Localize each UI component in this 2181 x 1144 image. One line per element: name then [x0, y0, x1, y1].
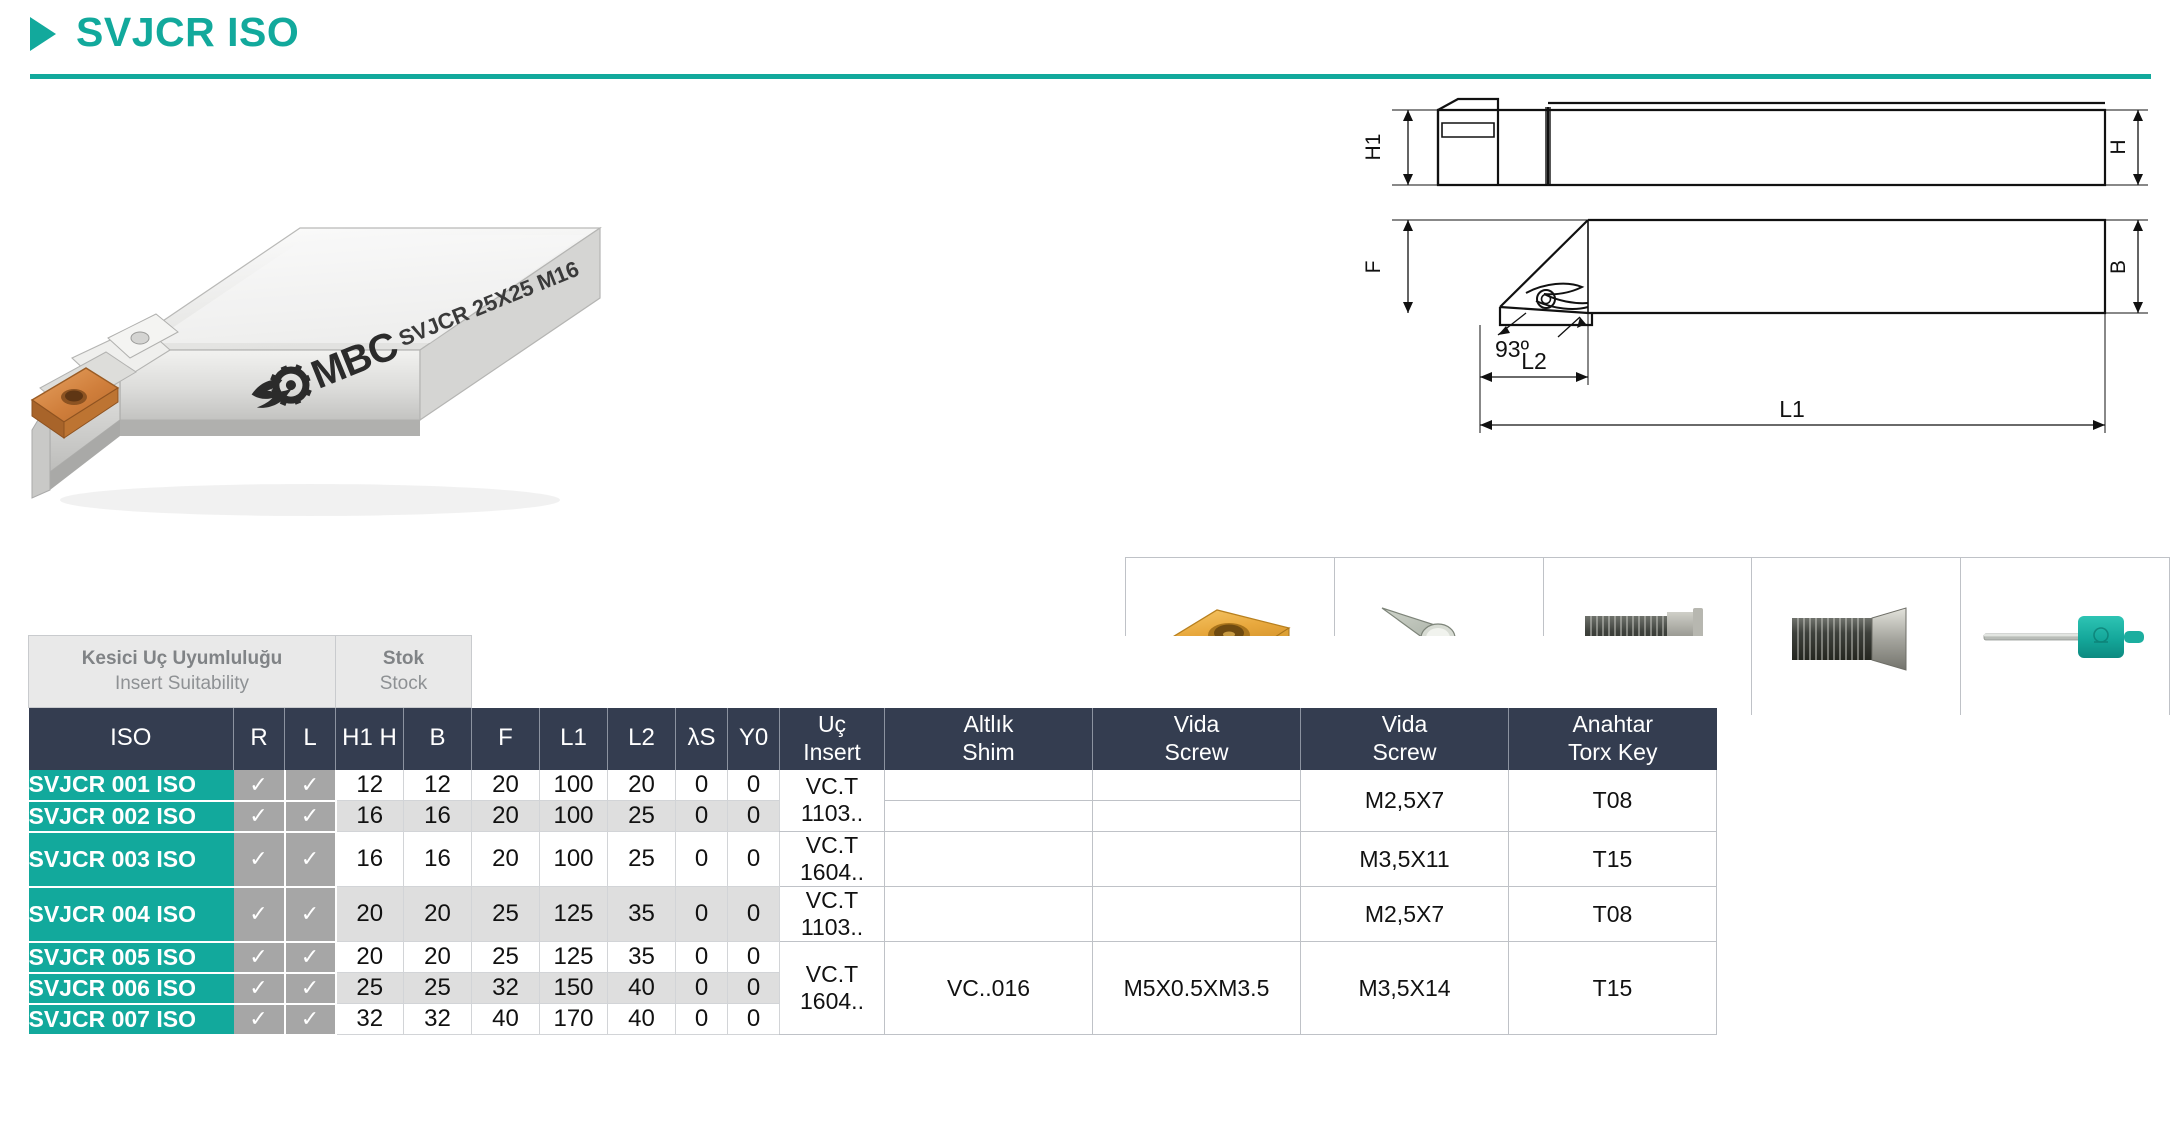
- row-ls: 0: [676, 887, 728, 942]
- col-header-l: L: [285, 708, 336, 770]
- cell-screw2: M2,5X7: [1301, 887, 1509, 942]
- page-header: SVJCR ISO: [0, 0, 2181, 82]
- cell-torx: T08: [1509, 770, 1717, 832]
- insert-suitability-header: Kesici Uç Uyumluluğu Insert Suitability: [29, 636, 336, 708]
- row-l1: 125: [540, 942, 608, 973]
- row-f: 40: [472, 1004, 540, 1035]
- row-ls: 0: [676, 973, 728, 1004]
- row-check-l: ✓: [285, 973, 336, 1004]
- row-l2: 25: [608, 801, 676, 832]
- col-header-shim: Altlık Shim: [885, 708, 1093, 770]
- table-row[interactable]: SVJCR 001 ISO ✓ ✓ 12 12 20 100 20 0 0 VC…: [29, 770, 1717, 801]
- row-iso-label: SVJCR 006 ISO: [29, 973, 234, 1004]
- row-y0: 0: [728, 832, 780, 887]
- row-ls: 0: [676, 1004, 728, 1035]
- row-f: 20: [472, 770, 540, 801]
- row-ls: 0: [676, 832, 728, 887]
- row-ls: 0: [676, 770, 728, 801]
- col-header-l1: L1: [540, 708, 608, 770]
- row-check-r: ✓: [234, 973, 285, 1004]
- col-header-screw1: Vida Screw: [1093, 708, 1301, 770]
- cell-insert: VC.T 1103..: [780, 887, 885, 942]
- screw-icon: [1752, 558, 1961, 715]
- col-header-screw2-en: Screw: [1301, 739, 1508, 766]
- row-check-r: ✓: [234, 832, 285, 887]
- cell-screw1: [1093, 832, 1301, 887]
- product-photo: MBC SVJCR 25X25 M16: [10, 100, 870, 540]
- dim-label-f: F: [1362, 261, 1385, 274]
- cell-screw2: M3,5X14: [1301, 942, 1509, 1035]
- table-row[interactable]: SVJCR 004 ISO ✓ ✓ 20 20 25 125 35 0 0 VC…: [29, 887, 1717, 942]
- col-header-insert-tr: Uç: [780, 711, 884, 738]
- row-l2: 40: [608, 973, 676, 1004]
- cell-insert: VC.T 1604..: [780, 942, 885, 1035]
- row-l2: 40: [608, 1004, 676, 1035]
- dim-label-l1: L1: [1779, 396, 1805, 422]
- row-h1h: 20: [336, 887, 404, 942]
- row-b: 16: [404, 832, 472, 887]
- technical-drawing: H1 H F B 93º L2 L1: [1330, 85, 2170, 505]
- cell-shim: [885, 887, 1093, 942]
- cell-torx: T08: [1509, 887, 1717, 942]
- dim-label-b: B: [2107, 260, 2130, 274]
- row-f: 25: [472, 942, 540, 973]
- insert-suitability-en: Insert Suitability: [29, 672, 335, 696]
- col-header-shim-en: Shim: [885, 739, 1092, 766]
- row-l1: 100: [540, 832, 608, 887]
- dim-label-l2: L2: [1521, 348, 1547, 374]
- col-header-r: R: [234, 708, 285, 770]
- header-divider: [30, 74, 2151, 79]
- suitability-header-row: Kesici Uç Uyumluluğu Insert Suitability …: [29, 636, 1717, 708]
- row-h1h: 16: [336, 832, 404, 887]
- row-ls: 0: [676, 942, 728, 973]
- row-b: 20: [404, 942, 472, 973]
- col-header-screw1-en: Screw: [1093, 739, 1300, 766]
- row-check-r: ✓: [234, 887, 285, 942]
- row-l1: 150: [540, 973, 608, 1004]
- row-h1h: 32: [336, 1004, 404, 1035]
- row-l1: 170: [540, 1004, 608, 1035]
- table-row[interactable]: SVJCR 003 ISO ✓ ✓ 16 16 20 100 25 0 0 VC…: [29, 832, 1717, 887]
- row-check-r: ✓: [234, 801, 285, 832]
- col-header-screw1-tr: Vida: [1093, 711, 1300, 738]
- row-check-l: ✓: [285, 1004, 336, 1035]
- col-header-ls: λS: [676, 708, 728, 770]
- row-f: 20: [472, 801, 540, 832]
- row-y0: 0: [728, 801, 780, 832]
- col-header-insert-en: Insert: [780, 739, 884, 766]
- cell-screw2: M3,5X11: [1301, 832, 1509, 887]
- col-header-b: B: [404, 708, 472, 770]
- col-header-torx: Anahtar Torx Key: [1509, 708, 1717, 770]
- row-f: 32: [472, 973, 540, 1004]
- col-header-screw2-tr: Vida: [1301, 711, 1508, 738]
- insert-suitability-tr: Kesici Uç Uyumluluğu: [29, 647, 335, 671]
- table-row[interactable]: SVJCR 005 ISO ✓ ✓ 20 20 25 125 35 0 0 VC…: [29, 942, 1717, 973]
- row-l2: 35: [608, 887, 676, 942]
- row-check-l: ✓: [285, 801, 336, 832]
- cell-screw1: [1093, 770, 1301, 801]
- catalog-page: SVJCR ISO: [0, 0, 2181, 1144]
- stock-header-tr: Stok: [336, 647, 471, 671]
- row-y0: 0: [728, 973, 780, 1004]
- page-title: SVJCR ISO: [76, 12, 299, 53]
- row-h1h: 25: [336, 973, 404, 1004]
- col-header-f: F: [472, 708, 540, 770]
- row-l1: 125: [540, 887, 608, 942]
- row-check-r: ✓: [234, 942, 285, 973]
- row-b: 12: [404, 770, 472, 801]
- row-b: 25: [404, 973, 472, 1004]
- play-triangle-icon: [30, 17, 56, 51]
- row-iso-label: SVJCR 005 ISO: [29, 942, 234, 973]
- row-iso-label: SVJCR 004 ISO: [29, 887, 234, 942]
- cell-shim: [885, 801, 1093, 832]
- row-check-l: ✓: [285, 887, 336, 942]
- col-header-insert: Uç Insert: [780, 708, 885, 770]
- row-b: 16: [404, 801, 472, 832]
- row-y0: 0: [728, 942, 780, 973]
- row-l2: 35: [608, 942, 676, 973]
- specification-table: Kesici Uç Uyumluluğu Insert Suitability …: [28, 635, 1717, 1036]
- cell-screw1: [1093, 887, 1301, 942]
- row-b: 32: [404, 1004, 472, 1035]
- col-header-torx-tr: Anahtar: [1509, 711, 1717, 738]
- row-iso-label: SVJCR 003 ISO: [29, 832, 234, 887]
- col-header-y0: Y0: [728, 708, 780, 770]
- col-header-l2: L2: [608, 708, 676, 770]
- row-l2: 20: [608, 770, 676, 801]
- col-header-screw2: Vida Screw: [1301, 708, 1509, 770]
- row-iso-label: SVJCR 007 ISO: [29, 1004, 234, 1035]
- row-iso-label: SVJCR 001 ISO: [29, 770, 234, 801]
- row-y0: 0: [728, 1004, 780, 1035]
- row-f: 20: [472, 832, 540, 887]
- cell-shim: [885, 770, 1093, 801]
- cell-screw2: M2,5X7: [1301, 770, 1509, 832]
- row-ls: 0: [676, 801, 728, 832]
- col-header-h1h: H1 H: [336, 708, 404, 770]
- table-header-row: ISO R L H1 H B F L1 L2 λS Y0 Uç Insert A…: [29, 708, 1717, 770]
- cell-screw1: M5X0.5XM3.5: [1093, 942, 1301, 1035]
- row-check-r: ✓: [234, 1004, 285, 1035]
- cell-screw1: [1093, 801, 1301, 832]
- row-f: 25: [472, 887, 540, 942]
- dim-label-h1: H1: [1362, 134, 1385, 161]
- cell-torx: T15: [1509, 942, 1717, 1035]
- col-header-torx-en: Torx Key: [1509, 739, 1717, 766]
- cell-shim: [885, 832, 1093, 887]
- row-check-r: ✓: [234, 770, 285, 801]
- row-iso-label: SVJCR 002 ISO: [29, 801, 234, 832]
- row-y0: 0: [728, 770, 780, 801]
- row-h1h: 12: [336, 770, 404, 801]
- row-check-l: ✓: [285, 832, 336, 887]
- row-check-l: ✓: [285, 942, 336, 973]
- cell-shim: VC..016: [885, 942, 1093, 1035]
- row-y0: 0: [728, 887, 780, 942]
- row-l1: 100: [540, 770, 608, 801]
- row-check-l: ✓: [285, 770, 336, 801]
- row-l2: 25: [608, 832, 676, 887]
- cell-insert: VC.T 1103..: [780, 770, 885, 832]
- col-header-shim-tr: Altlık: [885, 711, 1092, 738]
- cell-torx: T15: [1509, 832, 1717, 887]
- row-h1h: 20: [336, 942, 404, 973]
- cell-insert: VC.T 1604..: [780, 832, 885, 887]
- torx-key-icon: [1961, 558, 2169, 715]
- col-header-iso: ISO: [29, 708, 234, 770]
- row-b: 20: [404, 887, 472, 942]
- dim-label-h: H: [2107, 139, 2130, 154]
- row-h1h: 16: [336, 801, 404, 832]
- stock-header-en: Stock: [336, 672, 471, 696]
- row-l1: 100: [540, 801, 608, 832]
- stock-header: Stok Stock: [336, 636, 472, 708]
